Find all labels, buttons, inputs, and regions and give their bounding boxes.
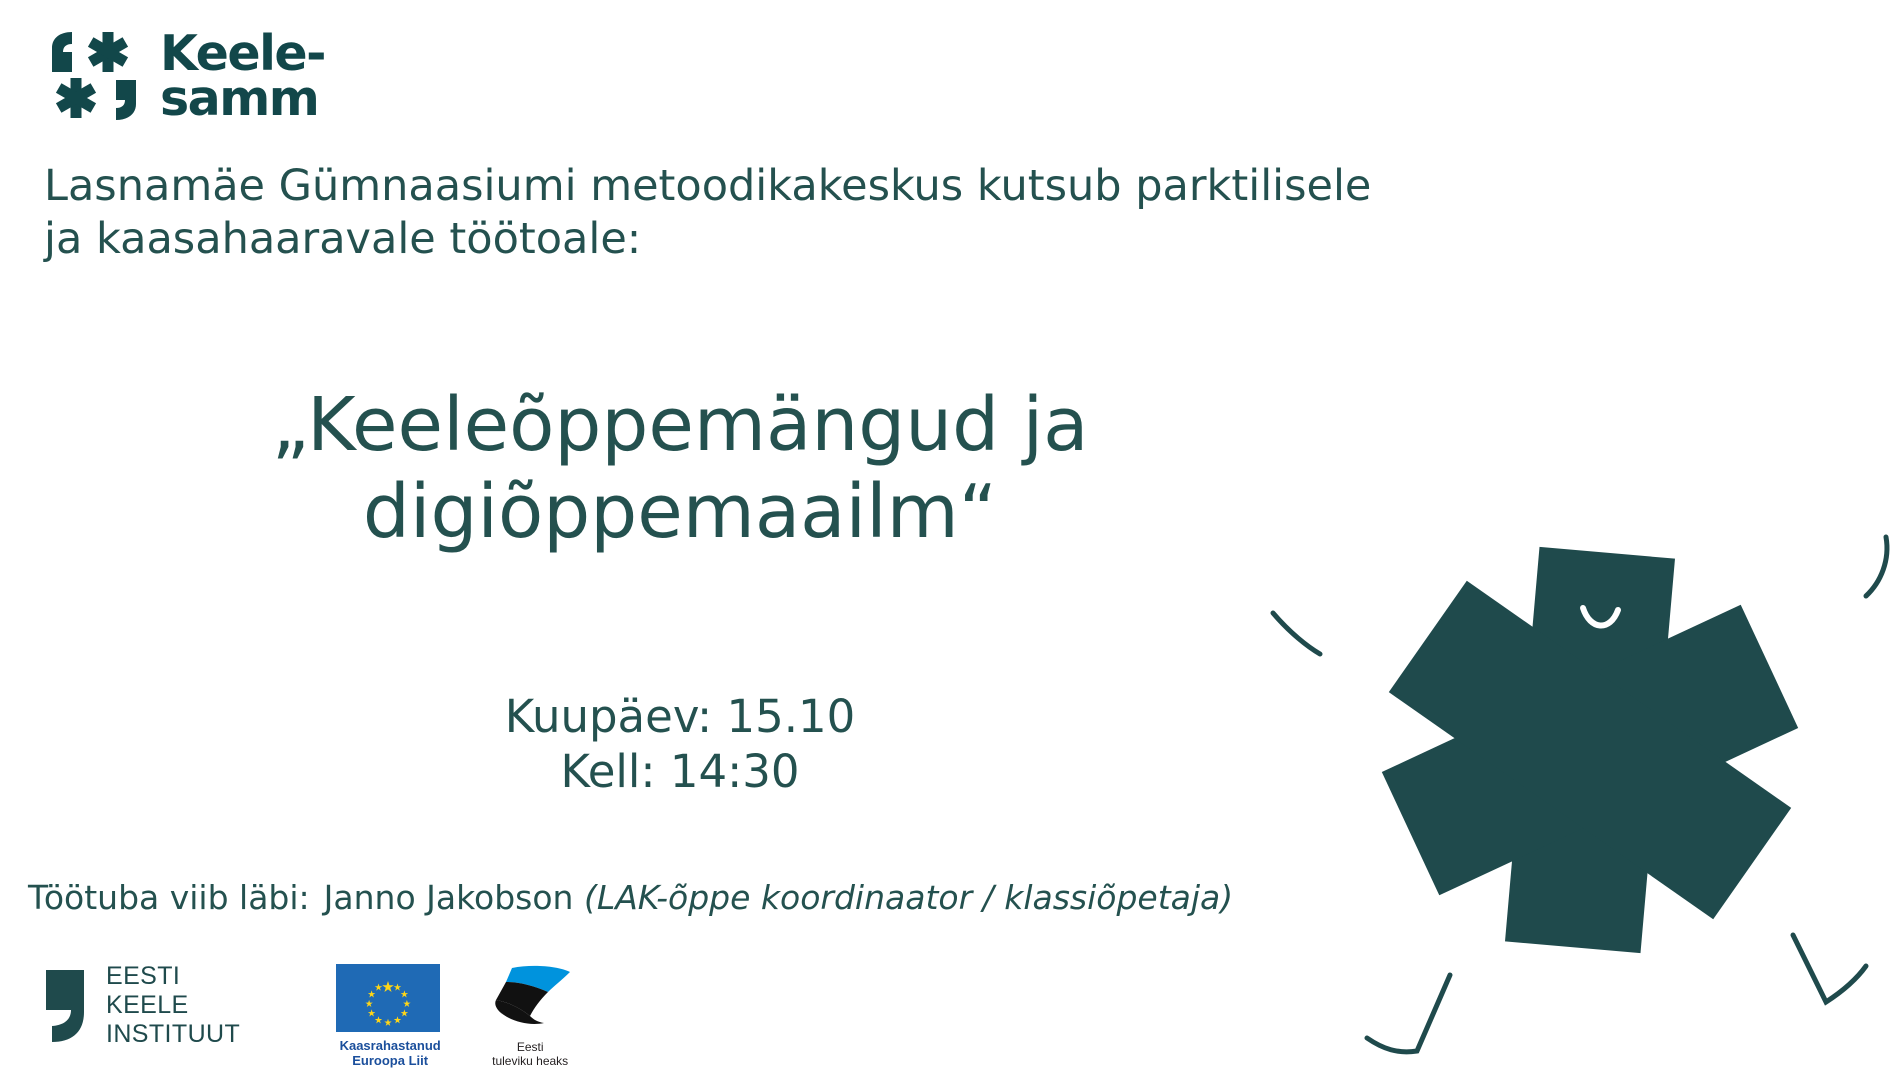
brand-wordmark: Keele- samm	[160, 31, 325, 121]
event-details: Kuupäev: 15.10 Kell: 14:30	[150, 690, 1210, 800]
event-time: Kell: 14:30	[150, 745, 1210, 800]
arm-stroke-left-icon	[1273, 613, 1320, 654]
leg-stroke-left-icon	[1367, 975, 1450, 1052]
presenter-name: Janno Jakobson	[324, 878, 574, 917]
workshop-title-line-1: „Keeleõppemängud ja	[150, 382, 1210, 469]
eu-logo: Kaasrahastanud Euroopa Liit	[336, 964, 444, 1068]
presenter-line: Töötuba viib läbi:Janno Jakobson (LAK-õp…	[28, 878, 1233, 917]
intro-paragraph: Lasnamäe Gümnaasiumi metoodikakeskus kut…	[44, 160, 1584, 267]
workshop-title-line-2: digiõppemaailm“	[150, 469, 1210, 556]
estonia-logo-caption: Eesti tuleviku heaks	[470, 1040, 590, 1068]
workshop-title: „Keeleõppemängud ja digiõppemaailm“	[150, 382, 1210, 557]
brand-logo: Keele- samm	[46, 30, 325, 122]
footer-logo-row: EESTI KEELE INSTITUUT	[44, 962, 590, 1068]
presenter-label: Töötuba viib läbi:	[28, 878, 310, 917]
eki-logo: EESTI KEELE INSTITUUT	[44, 962, 240, 1049]
eu-logo-caption: Kaasrahastanud Euroopa Liit	[336, 1038, 444, 1068]
presenter-role: (LAK-õppe koordinaator / klassiõpetaja)	[584, 878, 1233, 917]
eki-comma-icon	[44, 968, 90, 1044]
leg-stroke-right-icon	[1793, 935, 1866, 1002]
estonia-logo: Eesti tuleviku heaks	[470, 964, 590, 1068]
funding-logos: Kaasrahastanud Euroopa Liit Eesti tulevi…	[336, 964, 590, 1068]
slide-canvas: Keele- samm Lasnamäe Gümnaasiumi metoodi…	[0, 0, 1901, 1068]
asterisk-mascot-icon	[1270, 430, 1901, 1068]
estonian-flag-wave-icon	[470, 964, 590, 1038]
eki-wordmark: EESTI KEELE INSTITUUT	[106, 962, 240, 1049]
keelesamm-asterisk-quote-icon	[46, 30, 142, 122]
european-union-flag-icon	[336, 964, 444, 1032]
event-date: Kuupäev: 15.10	[150, 690, 1210, 745]
arm-stroke-right-icon	[1866, 537, 1887, 596]
